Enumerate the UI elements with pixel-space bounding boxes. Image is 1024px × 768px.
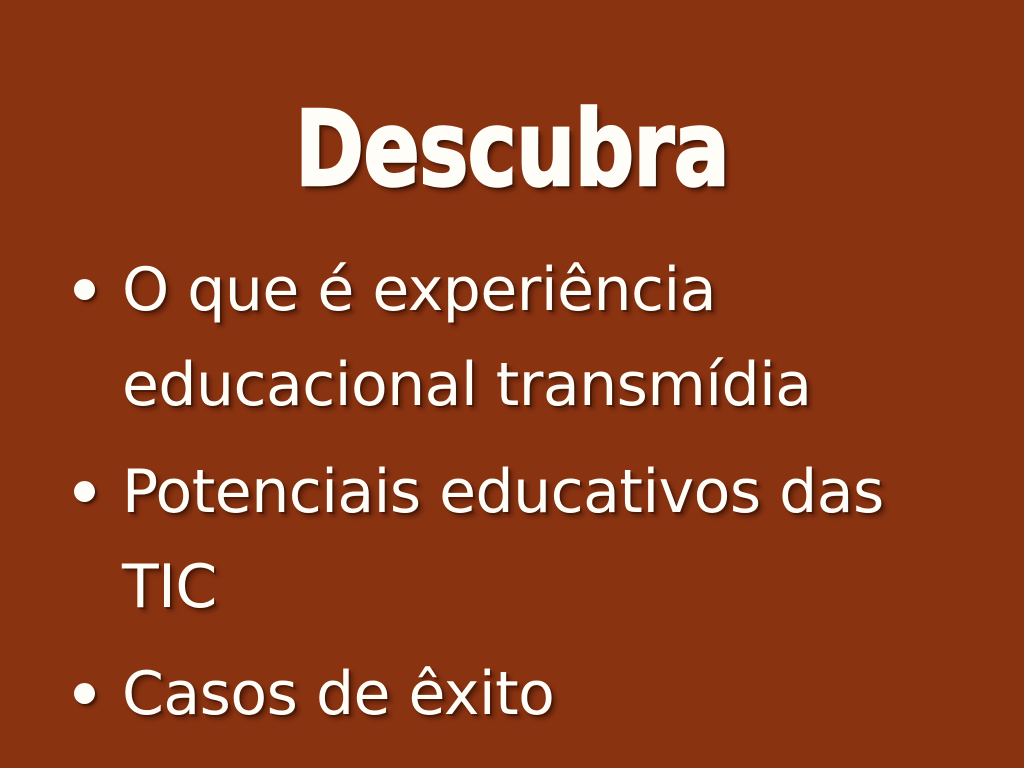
list-item-label: O que é experiência educacional transmíd… bbox=[122, 243, 922, 433]
bullet-list: O que é experiência educacional transmíd… bbox=[56, 243, 956, 754]
list-item-label: Potenciais educativos das TIC bbox=[122, 445, 922, 635]
page-title: Descubra bbox=[102, 94, 921, 204]
bullet-dot-icon bbox=[74, 481, 95, 502]
list-item-label: Casos de êxito bbox=[122, 647, 922, 742]
presentation-slide: Descubra O que é experiência educacional… bbox=[0, 0, 1024, 768]
list-item: Potenciais educativos das TIC bbox=[56, 445, 956, 635]
bullet-dot-icon bbox=[74, 683, 95, 704]
list-item: Casos de êxito bbox=[56, 647, 956, 742]
bullet-dot-icon bbox=[74, 279, 95, 300]
list-item: O que é experiência educacional transmíd… bbox=[56, 243, 956, 433]
